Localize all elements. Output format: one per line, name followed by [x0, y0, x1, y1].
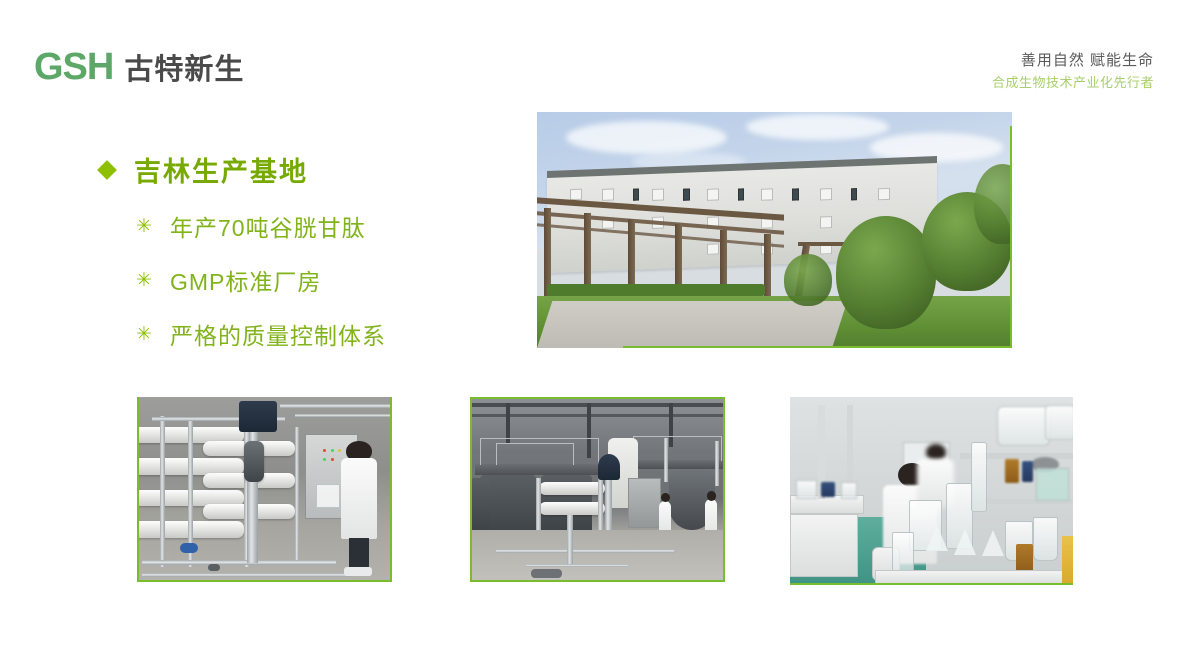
photo-border-top — [470, 397, 725, 399]
asterisk-bullet-icon: ✳ — [136, 271, 170, 290]
logo-gsh-text: GSH — [34, 46, 113, 89]
asterisk-bullet-icon: ✳ — [136, 217, 170, 236]
photo-border-left — [137, 397, 139, 582]
photo-border-bottom — [623, 346, 1013, 348]
facility-building-photo — [537, 112, 1012, 348]
brand-tagline: 善用自然 赋能生命 合成生物技术产业化先行者 — [992, 50, 1154, 93]
tagline-primary: 善用自然 赋能生命 — [992, 50, 1154, 72]
photo-border-right — [723, 397, 725, 582]
asterisk-bullet-icon: ✳ — [136, 325, 170, 344]
section-heading: 吉林生产基地 — [100, 150, 500, 189]
brand-logo: GSH 古特新生 — [34, 46, 244, 89]
content-list: 吉林生产基地 ✳ 年产70吨谷胱甘肽 ✳ GMP标准厂房 ✳ 严格的质量控制体系 — [100, 150, 500, 351]
list-item: ✳ 年产70吨谷胱甘肽 — [136, 209, 500, 243]
tagline-secondary: 合成生物技术产业化先行者 — [992, 74, 1154, 93]
list-item-label: 严格的质量控制体系 — [170, 317, 386, 351]
photo-border-bottom — [470, 580, 725, 582]
list-item: ✳ GMP标准厂房 — [136, 263, 500, 297]
logo-chinese-name: 古特新生 — [124, 46, 244, 88]
photo-border-right — [390, 397, 392, 582]
diamond-bullet-icon — [97, 160, 117, 180]
photo-border-left — [470, 397, 472, 582]
list-item: ✳ 严格的质量控制体系 — [136, 317, 500, 351]
photo-border-bottom — [790, 583, 1073, 585]
photo-border-right — [1010, 126, 1012, 348]
water-treatment-equipment-photo — [137, 397, 392, 582]
production-plant-photo — [470, 397, 725, 582]
list-item-label: 年产70吨谷胱甘肽 — [170, 209, 366, 243]
slide-canvas: GSH 古特新生 善用自然 赋能生命 合成生物技术产业化先行者 吉林生产基地 ✳… — [0, 0, 1204, 672]
photo-border-bottom — [137, 580, 392, 582]
quality-control-lab-photo — [790, 397, 1073, 585]
list-item-label: GMP标准厂房 — [170, 263, 321, 297]
section-heading-label: 吉林生产基地 — [134, 150, 308, 189]
